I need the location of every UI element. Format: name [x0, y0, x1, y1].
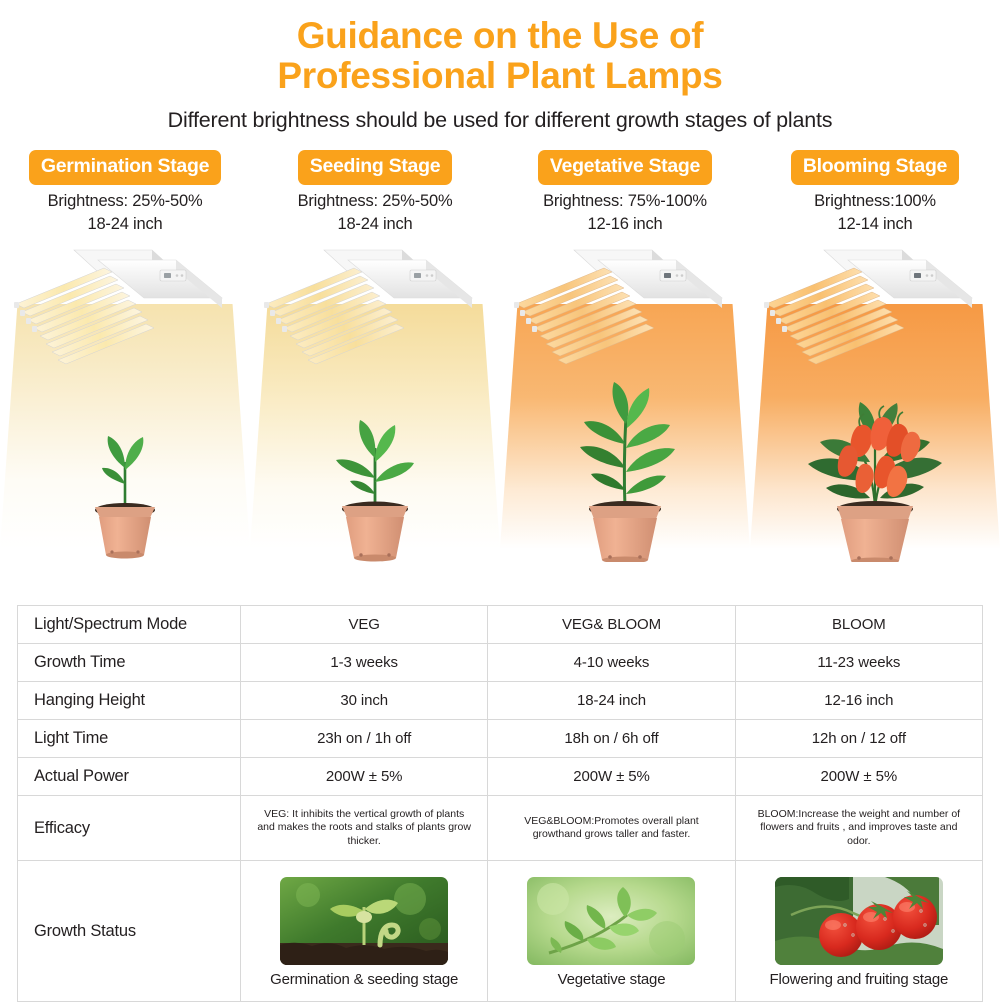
row-label: Light/Spectrum Mode [18, 606, 241, 644]
seedling-plant-icon [0, 312, 250, 562]
row-value-bloom: 12-16 inch [735, 682, 982, 720]
young-plant-icon [250, 312, 500, 562]
stage-column-blooming: Blooming Stage Brightness:100% 12-14 inc… [750, 150, 1000, 562]
table-row: Growth Time 1-3 weeks 4-10 weeks 11-23 w… [18, 644, 983, 682]
leafy-plant-icon [500, 312, 750, 562]
stage-brightness: Brightness: 25%-50% [0, 190, 250, 213]
page-title-line1: Guidance on the Use of [297, 15, 704, 56]
row-value-veg: 23h on / 1h off [241, 720, 488, 758]
stage-header: Blooming Stage Brightness:100% 12-14 inc… [750, 150, 1000, 236]
efficacy-bloom-cell: BLOOM:Increase the weight and number of … [735, 796, 982, 861]
table-row: Light Time 23h on / 1h off 18h on / 6h o… [18, 720, 983, 758]
efficacy-vegbloom-cell: VEG&BLOOM:Promotes overall plant growtha… [488, 796, 735, 861]
stage-badge-seeding: Seeding Stage [298, 150, 452, 185]
sprout-photo [280, 877, 448, 965]
efficacy-text: VEG: It inhibits the vertical growth of … [242, 808, 486, 849]
row-value-veg: 1-3 weeks [241, 644, 488, 682]
stage-badge-blooming: Blooming Stage [791, 150, 959, 185]
growth-status-caption: Flowering and fruiting stage [736, 971, 982, 988]
growth-status-cell-germination: Germination & seeding stage [241, 861, 488, 1002]
row-label: Growth Status [18, 861, 241, 1002]
row-value-bloom: 11-23 weeks [735, 644, 982, 682]
row-label: Efficacy [18, 796, 241, 861]
stage-header: Germination Stage Brightness: 25%-50% 18… [0, 150, 250, 236]
row-value-vegbloom: 4-10 weeks [488, 644, 735, 682]
growth-status-caption: Germination & seeding stage [241, 971, 487, 988]
stage-brightness: Brightness: 75%-100% [500, 190, 750, 213]
stage-illustration [0, 242, 250, 562]
stage-brightness: Brightness: 25%-50% [250, 190, 500, 213]
specification-table: Light/Spectrum Mode VEG VEG& BLOOM BLOOM… [17, 605, 983, 1002]
efficacy-text: BLOOM:Increase the weight and number of … [737, 808, 981, 849]
table-row: Actual Power 200W ± 5% 200W ± 5% 200W ± … [18, 758, 983, 796]
growth-status-caption: Vegetative stage [488, 971, 734, 988]
stage-badge-vegetative: Vegetative Stage [538, 150, 712, 185]
efficacy-veg-cell: VEG: It inhibits the vertical growth of … [241, 796, 488, 861]
row-value-veg: 30 inch [241, 682, 488, 720]
page-title: Guidance on the Use of Professional Plan… [0, 16, 1000, 96]
stage-illustration [750, 242, 1000, 562]
table-row: Hanging Height 30 inch 18-24 inch 12-16 … [18, 682, 983, 720]
red-tomatoes-photo [775, 877, 943, 965]
stage-illustration [500, 242, 750, 562]
stage-header: Vegetative Stage Brightness: 75%-100% 12… [500, 150, 750, 236]
stage-column-germination: Germination Stage Brightness: 25%-50% 18… [0, 150, 250, 562]
stage-badge-germination: Germination Stage [29, 150, 221, 185]
row-value-bloom: 12h on / 12 off [735, 720, 982, 758]
stage-brightness: Brightness:100% [750, 190, 1000, 213]
row-label: Light Time [18, 720, 241, 758]
row-value-veg: VEG [241, 606, 488, 644]
growth-status-cell-vegetative: Vegetative stage [488, 861, 735, 1002]
row-value-vegbloom: 18h on / 6h off [488, 720, 735, 758]
row-value-bloom: BLOOM [735, 606, 982, 644]
row-value-vegbloom: 18-24 inch [488, 682, 735, 720]
growth-status-cell-flowering: Flowering and fruiting stage [735, 861, 982, 1002]
stage-header: Seeding Stage Brightness: 25%-50% 18-24 … [250, 150, 500, 236]
pepper-plant-icon [750, 312, 1000, 562]
stage-height: 18-24 inch [250, 213, 500, 236]
row-label: Hanging Height [18, 682, 241, 720]
stage-height: 12-16 inch [500, 213, 750, 236]
stage-illustration [250, 242, 500, 562]
row-label: Actual Power [18, 758, 241, 796]
table-row-growth-status: Growth Status [18, 861, 983, 1002]
row-value-bloom: 200W ± 5% [735, 758, 982, 796]
row-value-vegbloom: VEG& BLOOM [488, 606, 735, 644]
green-leaves-photo [527, 877, 695, 965]
efficacy-text: VEG&BLOOM:Promotes overall plant growtha… [489, 815, 733, 842]
row-label: Growth Time [18, 644, 241, 682]
stage-column-seeding: Seeding Stage Brightness: 25%-50% 18-24 … [250, 150, 500, 562]
table-row: Light/Spectrum Mode VEG VEG& BLOOM BLOOM [18, 606, 983, 644]
table-row-efficacy: Efficacy VEG: It inhibits the vertical g… [18, 796, 983, 861]
page-header: Guidance on the Use of Professional Plan… [0, 0, 1000, 133]
stage-column-vegetative: Vegetative Stage Brightness: 75%-100% 12… [500, 150, 750, 562]
row-value-veg: 200W ± 5% [241, 758, 488, 796]
page-title-line2: Professional Plant Lamps [0, 56, 1000, 96]
row-value-vegbloom: 200W ± 5% [488, 758, 735, 796]
stage-height: 12-14 inch [750, 213, 1000, 236]
stage-height: 18-24 inch [0, 213, 250, 236]
stage-columns: Germination Stage Brightness: 25%-50% 18… [0, 150, 1000, 562]
page-subtitle: Different brightness should be used for … [0, 108, 1000, 133]
